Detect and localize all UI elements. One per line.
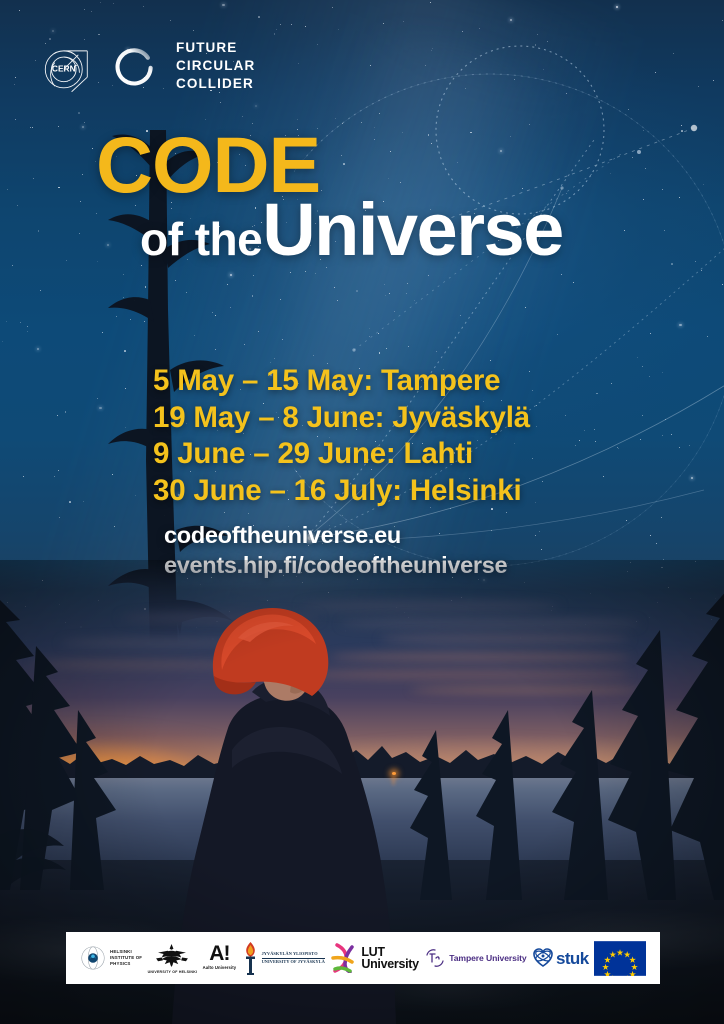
jyu-line-fi: JYVÄSKYLÄN YLIOPISTO xyxy=(262,951,325,957)
aalto-mark: A! xyxy=(209,946,229,963)
sponsor-logo-helsinki-institute-of-physics: HELSINKI INSTITUTE OF PHYSICS xyxy=(80,945,142,971)
fcc-wordmark-line-3: COLLIDER xyxy=(176,75,255,93)
sponsor-logo-aalto-university: A! Aalto University xyxy=(203,946,236,970)
lut-wordmark: LUT University xyxy=(361,946,418,971)
brand-logo-row: CERN FUTURE CIRCULAR COLLIDER xyxy=(38,36,255,96)
tampere-mark-icon xyxy=(424,947,446,969)
sponsor-logo-university-of-helsinki: UNIVERSITY OF HELSINKI xyxy=(148,943,198,974)
poster: CERN FUTURE CIRCULAR COLLIDER xyxy=(0,0,724,1024)
poster-title: CODE of theUniverse xyxy=(0,128,724,267)
jyu-wordmark: JYVÄSKYLÄN YLIOPISTO UNIVERSITY OF JYVÄS… xyxy=(262,951,325,965)
tour-schedule-list: 5 May – 15 May: Tampere 19 May – 8 June:… xyxy=(153,363,530,510)
stuk-atom-heart-icon xyxy=(532,947,554,969)
fcc-wordmark-line-2: CIRCULAR xyxy=(176,57,255,75)
hip-atom-icon xyxy=(80,945,106,971)
title-word-universe: Universe xyxy=(262,188,563,271)
fcc-wordmark-line-1: FUTURE xyxy=(176,39,255,57)
uoh-wordmark: UNIVERSITY OF HELSINKI xyxy=(148,970,198,974)
aalto-wordmark: Aalto University xyxy=(203,965,236,970)
hip-wordmark: HELSINKI INSTITUTE OF PHYSICS xyxy=(110,949,142,967)
schedule-item: 5 May – 15 May: Tampere xyxy=(153,363,530,400)
sponsor-logo-european-union xyxy=(594,941,646,976)
lut-line-2: University xyxy=(361,958,418,971)
sponsor-logo-university-of-jyvaskyla: JYVÄSKYLÄN YLIOPISTO UNIVERSITY OF JYVÄS… xyxy=(242,941,325,975)
hip-line-3: PHYSICS xyxy=(110,961,142,967)
lut-mark-icon xyxy=(330,943,358,973)
cern-wordmark: CERN xyxy=(52,64,76,74)
cern-logo-icon: CERN xyxy=(38,38,94,94)
schedule-item: 9 June – 29 June: Lahti xyxy=(153,436,530,473)
sponsor-logo-bar: HELSINKI INSTITUTE OF PHYSICS UNIVE xyxy=(66,932,660,984)
fcc-ring-icon xyxy=(112,43,158,89)
uoh-crest-icon xyxy=(155,943,189,969)
stuk-wordmark: stuk xyxy=(556,950,589,967)
tampere-wordmark: Tampere University xyxy=(449,953,526,963)
schedule-item: 19 May – 8 June: Jyväskylä xyxy=(153,400,530,437)
fcc-wordmark: FUTURE CIRCULAR COLLIDER xyxy=(176,39,255,92)
sponsor-logo-lut-university: LUT University xyxy=(330,943,418,973)
sponsor-logo-stuk: stuk xyxy=(532,947,589,969)
jyu-torch-icon xyxy=(242,941,259,975)
jyu-line-en: UNIVERSITY OF JYVÄSKYLÄ xyxy=(262,959,325,965)
eu-flag-icon xyxy=(594,941,646,976)
sponsor-logo-tampere-university: Tampere University xyxy=(424,947,526,969)
link-codeoftheuniverse[interactable]: codeoftheuniverse.eu xyxy=(164,521,507,551)
schedule-item: 30 June – 16 July: Helsinki xyxy=(153,473,530,510)
title-word-of-the: of the xyxy=(140,213,262,265)
